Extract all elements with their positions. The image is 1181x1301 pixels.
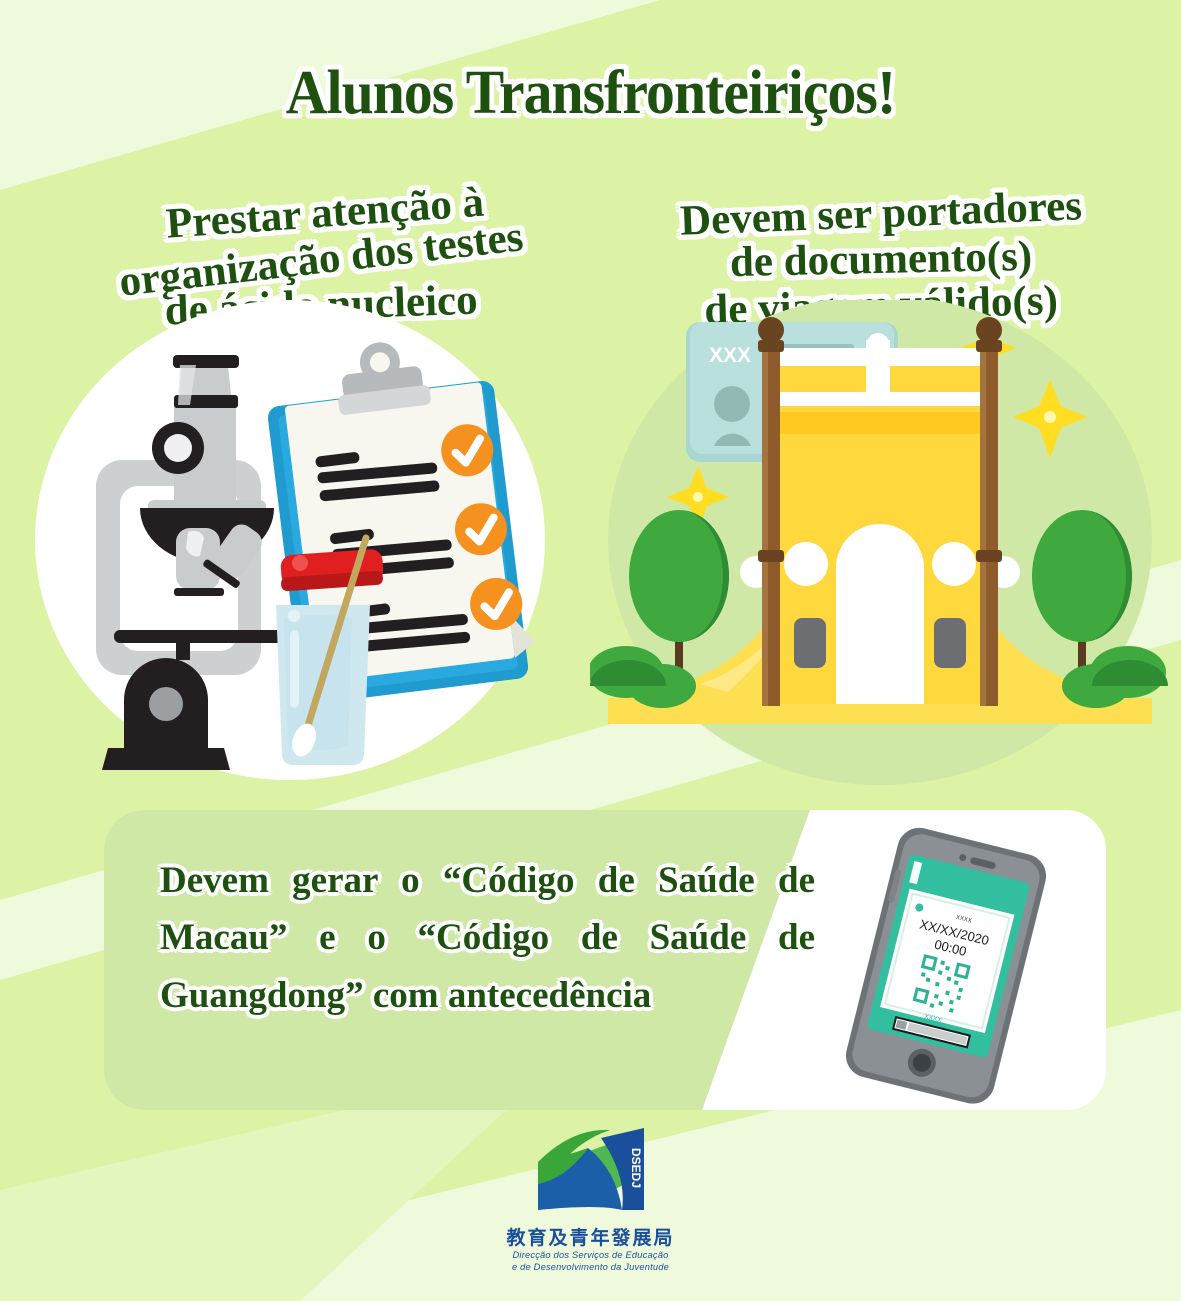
dsedj-logo: DSEDJ 教育及青年發展局 Direcção dos Serviços de … xyxy=(0,1128,1181,1273)
dsedj-mark: DSEDJ xyxy=(516,1128,666,1224)
logo-portuguese-line1: Direcção dos Serviços de Educação xyxy=(0,1250,1181,1262)
logo-portuguese-line2: e de Desenvolvimento da Juventude xyxy=(0,1262,1181,1274)
nucleic-acid-test-illustration xyxy=(28,300,588,800)
card-text: Devem gerar o “Código de Saúde de Macau”… xyxy=(160,852,815,1024)
travel-documents-illustration: XXX XXX xyxy=(590,300,1170,800)
id-card-front-label: XXX xyxy=(709,344,751,367)
gate-icon xyxy=(740,317,1020,706)
health-code-phone: + XXXX XX/XX/2020 00:00 xyxy=(812,826,1082,1106)
page-title: Alunos Transfronteiriços! xyxy=(41,58,1139,129)
health-code-card: Devem gerar o “Código de Saúde de Macau”… xyxy=(104,810,1106,1110)
dsedj-acronym: DSEDJ xyxy=(629,1148,643,1188)
logo-chinese: 教育及青年發展局 xyxy=(0,1229,1181,1250)
